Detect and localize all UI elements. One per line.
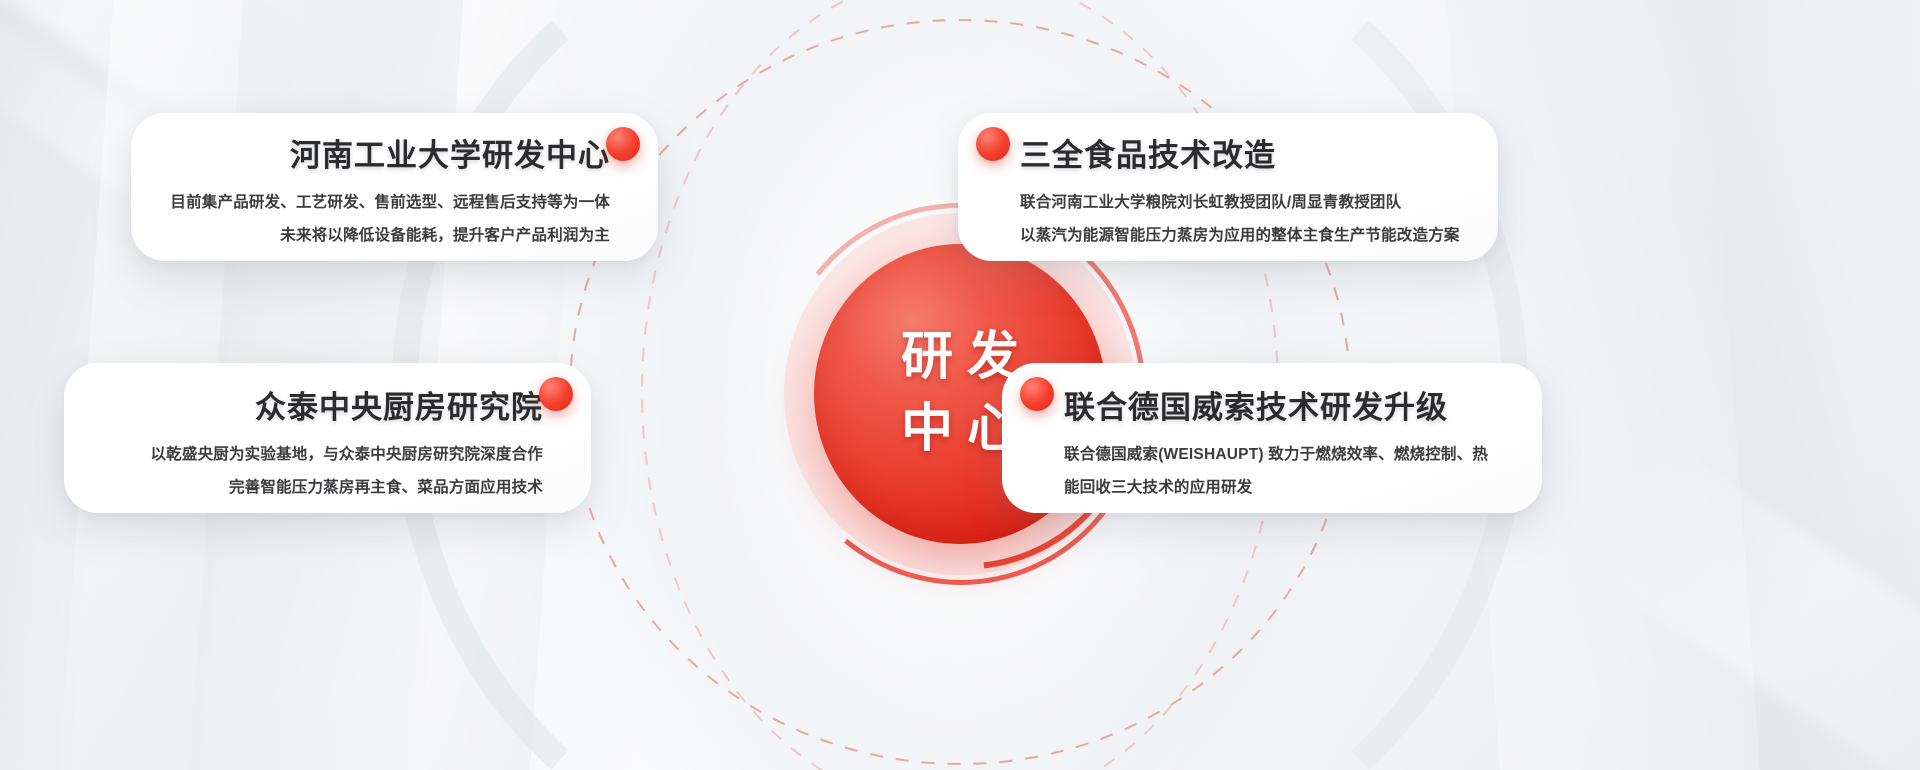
card-title: 众泰中央厨房研究院 (64, 391, 543, 425)
card-body-line: 以乾盛央厨为实验基地，与众泰中央厨房研究院深度合作 (64, 439, 543, 472)
card-body-line: 联合河南工业大学粮院刘长虹教授团队/周显青教授团队 (1020, 187, 1498, 220)
card-henan-university[interactable]: 河南工业大学研发中心 目前集产品研发、工艺研发、售前选型、远程售后支持等为一体 … (131, 113, 658, 261)
card-body-line: 未来将以降低设备能耗，提升客户产品利润为主 (131, 220, 610, 253)
card-weishaupt-germany[interactable]: 联合德国威索技术研发升级 联合德国威索(WEISHAUPT) 致力于燃烧效率、燃… (1002, 363, 1542, 513)
card-body-line: 以蒸汽为能源智能压力蒸房为应用的整体主食生产节能改造方案 (1020, 220, 1498, 253)
bullet-dot-icon (539, 377, 573, 411)
bullet-dot-icon (606, 127, 640, 161)
card-title: 联合德国威索技术研发升级 (1064, 391, 1542, 425)
card-body-line: 联合德国威索(WEISHAUPT) 致力于燃烧效率、燃烧控制、热 (1064, 439, 1542, 472)
card-title: 三全食品技术改造 (1020, 139, 1498, 173)
card-body-line: 完善智能压力蒸房再主食、菜品方面应用技术 (64, 472, 543, 505)
card-title: 河南工业大学研发中心 (131, 139, 610, 173)
bullet-dot-icon (976, 127, 1010, 161)
card-body-line: 目前集产品研发、工艺研发、售前选型、远程售后支持等为一体 (131, 187, 610, 220)
card-body-line: 能回收三大技术的应用研发 (1064, 472, 1542, 505)
card-zhongtai-kitchen[interactable]: 众泰中央厨房研究院 以乾盛央厨为实验基地，与众泰中央厨房研究院深度合作 完善智能… (64, 363, 591, 513)
bullet-dot-icon (1020, 377, 1054, 411)
card-sanquan-food[interactable]: 三全食品技术改造 联合河南工业大学粮院刘长虹教授团队/周显青教授团队 以蒸汽为能… (958, 113, 1498, 261)
